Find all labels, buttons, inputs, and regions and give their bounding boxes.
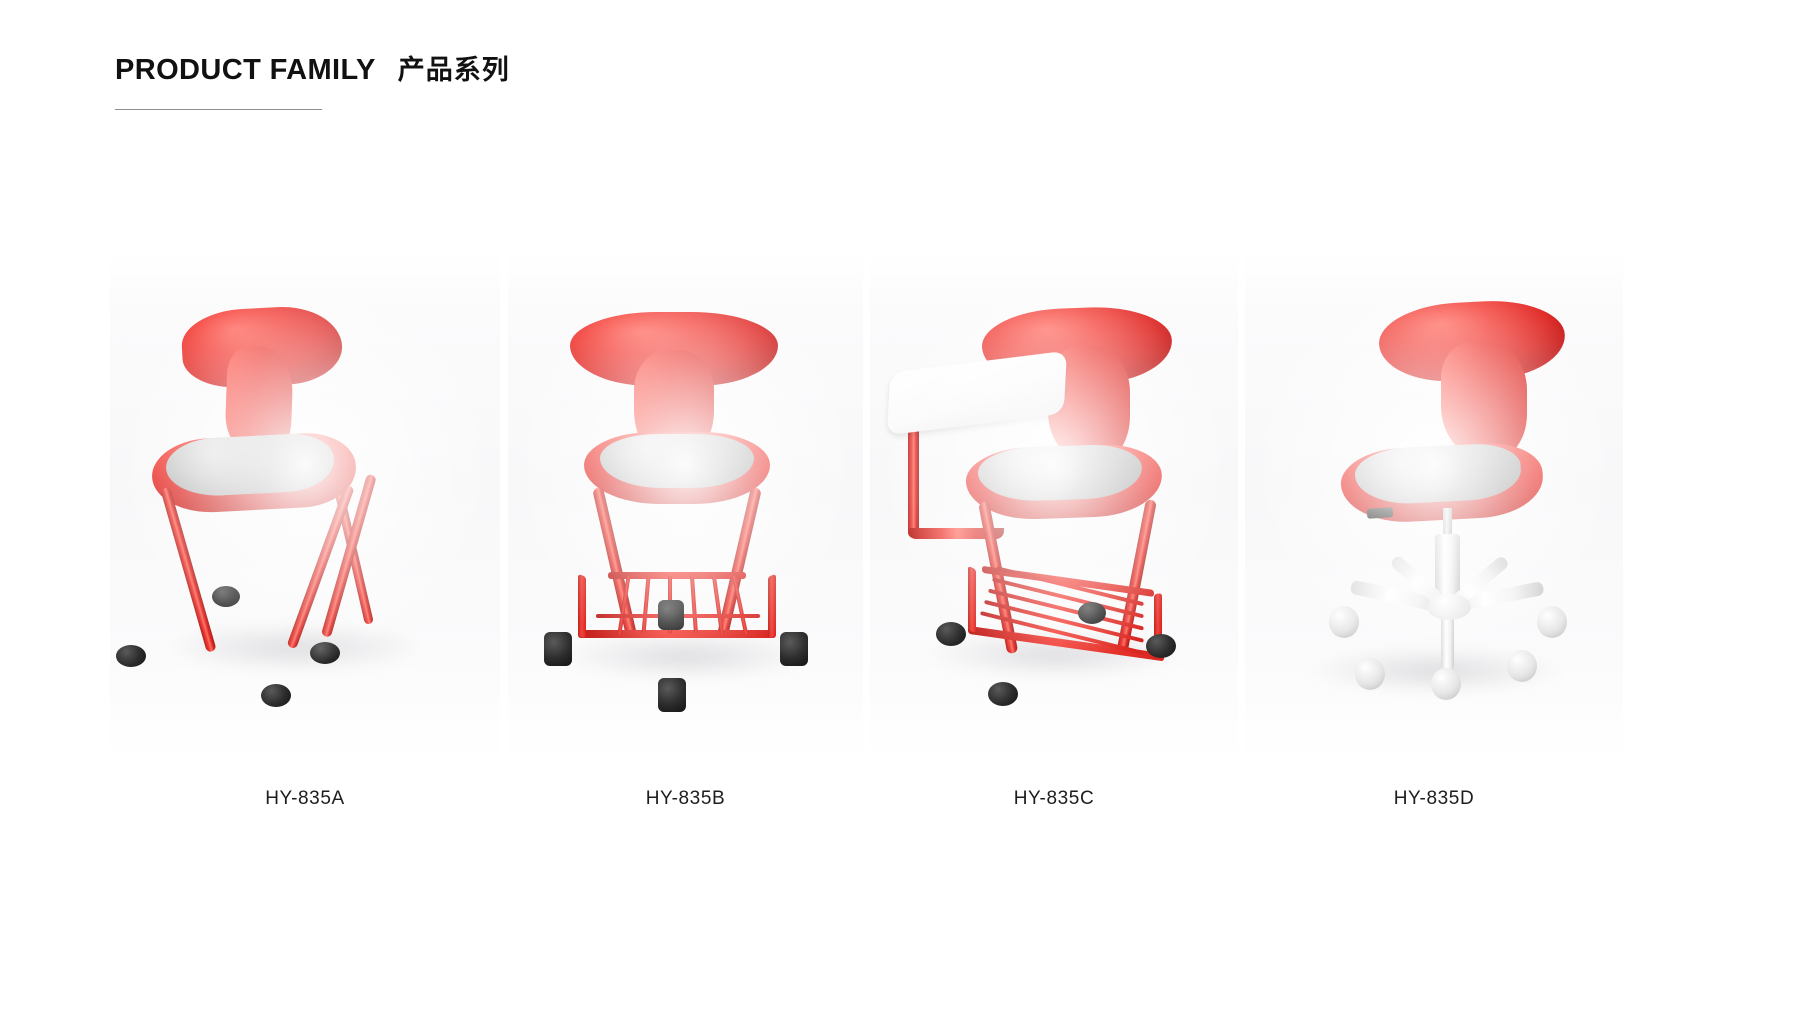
caster-mid: [1078, 602, 1106, 624]
product-photo-panel: [1245, 250, 1623, 762]
product-card-hy-835d[interactable]: HY-835D: [1245, 250, 1623, 830]
height-adjust-lever[interactable]: [1367, 507, 1394, 519]
caster-right-front: [1507, 650, 1537, 682]
product-card-hy-835b[interactable]: HY-835B: [508, 250, 863, 830]
chair-backrest-stem: [1441, 342, 1527, 460]
product-label-hy-835b: HY-835B: [508, 788, 863, 810]
caster-front-left: [544, 632, 572, 666]
caster-front-center: [658, 678, 686, 712]
caster-left-back: [1329, 606, 1359, 638]
base-hub: [1427, 594, 1471, 620]
product-family-grid: HY-835A: [0, 0, 1800, 1013]
product-card-hy-835c[interactable]: HY-835C: [870, 250, 1238, 830]
caster-rear-left: [212, 586, 240, 607]
product-image-hy-835c: [870, 250, 1238, 762]
caster-rear-center: [658, 600, 684, 630]
caster-front-right: [780, 632, 808, 666]
gas-lift-piston: [1443, 508, 1452, 536]
product-image-hy-835d: [1245, 250, 1623, 762]
product-image-hy-835b: [508, 250, 863, 762]
caster-rear-right: [310, 642, 340, 664]
caster-front-right: [261, 684, 291, 707]
caster-left-front: [1355, 658, 1385, 690]
tablet-arm-writing-surface[interactable]: [887, 351, 1067, 436]
product-photo-panel: [110, 250, 500, 762]
chair-seat-pad: [600, 434, 754, 488]
caster-front-center: [1431, 668, 1461, 700]
product-card-hy-835a[interactable]: HY-835A: [110, 250, 500, 830]
caster-rear-right: [1146, 634, 1176, 658]
product-photo-panel: [870, 250, 1238, 762]
caster-front-left: [988, 682, 1018, 706]
caster-rear-left: [936, 622, 966, 646]
product-label-hy-835d: HY-835D: [1245, 788, 1623, 810]
product-label-hy-835a: HY-835A: [110, 788, 500, 810]
product-photo-panel: [508, 250, 863, 762]
caster-front-left: [116, 645, 146, 667]
caster-right-back: [1537, 606, 1567, 638]
product-image-hy-835a: [110, 250, 500, 762]
product-label-hy-835c: HY-835C: [870, 788, 1238, 810]
